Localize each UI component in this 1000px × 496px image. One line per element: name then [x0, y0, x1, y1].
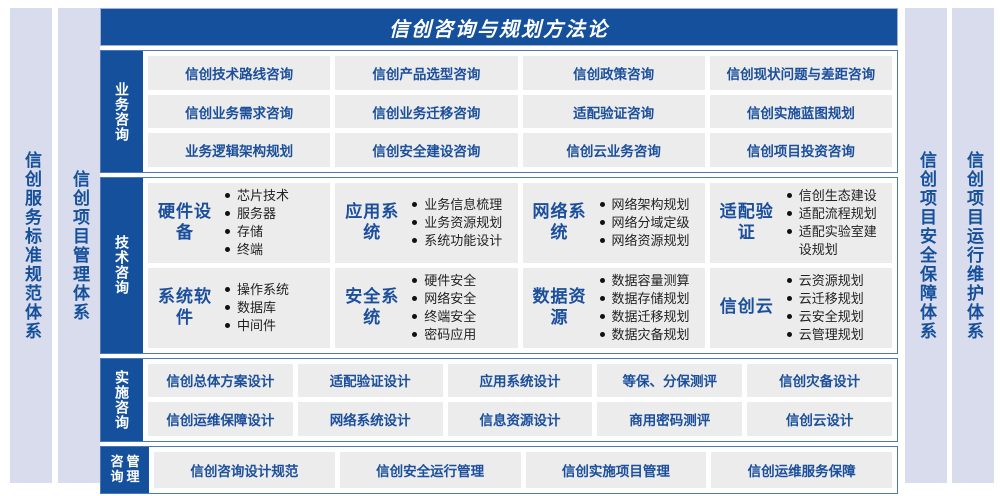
bullet-item: 数据迁移规划 [599, 308, 699, 326]
bullet-item: 密码应用 [411, 326, 511, 344]
bullet-item: 终端安全 [411, 308, 511, 326]
pillar-service-standard-system: 信创服务标准规范体系 [10, 8, 52, 483]
band-row: 系统软件 操作系统 数据库 中间件 安全系统 硬件安全 网络安全 终端安全 [148, 268, 892, 348]
pillar-project-management-system: 信创项目管理体系 [58, 8, 100, 483]
topic-card-bullets: 硬件安全 网络安全 终端安全 密码应用 [407, 272, 511, 344]
band-label-technical: 技术咨询 [101, 178, 143, 353]
band-row: 信创咨询设计规范 信创安全运行管理 信创实施项目管理 信创运维服务保障 [154, 452, 892, 488]
band-label-char: 询 [110, 470, 123, 485]
list-item[interactable]: 信创运维保障设计 [148, 402, 293, 436]
bullet-item: 业务信息梳理 [411, 196, 511, 214]
page-title: 信创咨询与规划方法论 [389, 13, 609, 42]
bullet-item: 网络安全 [411, 290, 511, 308]
band-label-char: 咨 [110, 455, 123, 470]
bullet-item: 操作系统 [224, 281, 324, 299]
band-body-implementation: 信创总体方案设计 适配验证设计 应用系统设计 等保、分保测评 信创灾备设计 信创… [143, 359, 897, 441]
bullet-item: 数据存储规划 [599, 290, 699, 308]
bullet-item: 数据灾备规划 [599, 326, 699, 344]
topic-card-title: 硬件设备 [154, 202, 216, 243]
topic-card-title: 信创云 [716, 297, 778, 317]
list-item[interactable]: 等保、分保测评 [597, 364, 742, 398]
bullet-item: 芯片技术 [224, 187, 324, 205]
bullet-item: 适配流程规划 [786, 205, 886, 223]
list-item[interactable]: 信创咨询设计规范 [154, 452, 335, 488]
diagram-canvas: 信创服务标准规范体系 信创项目管理体系 信创项目安全保障体系 信创项目运行维护体… [0, 0, 1000, 496]
list-item[interactable]: 信创现状问题与差距咨询 [710, 56, 892, 90]
topic-card-bullets: 云资源规划 云迁移规划 云安全规划 云管理规划 [782, 272, 886, 344]
bullet-item: 网络资源规划 [599, 232, 699, 250]
list-item[interactable]: 信创业务迁移咨询 [335, 95, 517, 129]
bullet-item: 云管理规划 [786, 326, 886, 344]
list-item[interactable]: 信创业务需求咨询 [148, 95, 330, 129]
bullet-item: 硬件安全 [411, 272, 511, 290]
band-row: 信创技术路线咨询 信创产品选型咨询 信创政策咨询 信创现状问题与差距咨询 [148, 56, 892, 90]
pillar-label: 信创项目运行维护体系 [963, 151, 983, 341]
list-item[interactable]: 信创灾备设计 [747, 364, 892, 398]
band-business-consulting: 业务咨询 信创技术路线咨询 信创产品选型咨询 信创政策咨询 信创现状问题与差距咨… [100, 50, 898, 173]
topic-card-network-system[interactable]: 网络系统 网络架构规划 网络分域定级 网络资源规划 [523, 183, 705, 263]
band-row: 业务逻辑架构规划 信创安全建设咨询 信创云业务咨询 信创项目投资咨询 [148, 133, 892, 167]
band-label-management: 咨 管 询 理 [101, 447, 149, 493]
band-body-management: 信创咨询设计规范 信创安全运行管理 信创实施项目管理 信创运维服务保障 [149, 447, 897, 493]
list-item[interactable]: 业务逻辑架构规划 [148, 133, 330, 167]
topic-card-bullets: 业务信息梳理 业务资源规划 系统功能设计 [407, 196, 511, 250]
list-item[interactable]: 信创总体方案设计 [148, 364, 293, 398]
band-body-technical: 硬件设备 芯片技术 服务器 存储 终端 应用系统 业务信息梳理 业务资源规划 [143, 178, 897, 353]
bullet-item: 数据容量测算 [599, 272, 699, 290]
list-item[interactable]: 信创技术路线咨询 [148, 56, 330, 90]
topic-card-security-system[interactable]: 安全系统 硬件安全 网络安全 终端安全 密码应用 [335, 268, 517, 348]
bullet-item: 网络分域定级 [599, 214, 699, 232]
list-item[interactable]: 信创产品选型咨询 [335, 56, 517, 90]
bullet-item: 中间件 [224, 317, 324, 335]
band-label-char: 理 [127, 470, 140, 485]
bullet-item: 云安全规划 [786, 308, 886, 326]
bullet-item: 网络架构规划 [599, 196, 699, 214]
topic-card-bullets: 信创生态建设 适配流程规划 适配实验室建设规划 [782, 187, 886, 259]
topic-card-bullets: 数据容量测算 数据存储规划 数据迁移规划 数据灾备规划 [595, 272, 699, 344]
pillar-project-operations-maintenance-system: 信创项目运行维护体系 [952, 8, 994, 483]
topic-card-bullets: 操作系统 数据库 中间件 [220, 281, 324, 335]
band-technical-consulting: 技术咨询 硬件设备 芯片技术 服务器 存储 终端 应用系统 [100, 177, 898, 354]
list-item[interactable]: 信创安全建设咨询 [335, 133, 517, 167]
band-body-business: 信创技术路线咨询 信创产品选型咨询 信创政策咨询 信创现状问题与差距咨询 信创业… [143, 51, 897, 172]
topic-card-system-software[interactable]: 系统软件 操作系统 数据库 中间件 [148, 268, 330, 348]
topic-card-title: 系统软件 [154, 287, 216, 328]
bullet-item: 服务器 [224, 205, 324, 223]
topic-card-title: 网络系统 [529, 202, 591, 243]
band-label-char: 管 [127, 455, 140, 470]
bullet-item: 存储 [224, 223, 324, 241]
band-implementation-consulting: 实施咨询 信创总体方案设计 适配验证设计 应用系统设计 等保、分保测评 信创灾备… [100, 358, 898, 442]
band-label-text: 实施咨询 [114, 370, 130, 430]
list-item[interactable]: 信创运维服务保障 [711, 452, 892, 488]
list-item[interactable]: 信创云设计 [747, 402, 892, 436]
list-item[interactable]: 信创实施项目管理 [526, 452, 707, 488]
band-row: 信创总体方案设计 适配验证设计 应用系统设计 等保、分保测评 信创灾备设计 [148, 364, 892, 398]
topic-card-title: 安全系统 [341, 287, 403, 328]
band-label-implementation: 实施咨询 [101, 359, 143, 441]
band-row: 硬件设备 芯片技术 服务器 存储 终端 应用系统 业务信息梳理 业务资源规划 [148, 183, 892, 263]
band-label-text: 业务咨询 [114, 82, 130, 142]
topic-card-data-resources[interactable]: 数据资源 数据容量测算 数据存储规划 数据迁移规划 数据灾备规划 [523, 268, 705, 348]
bullet-item: 终端 [224, 241, 324, 259]
bullet-item: 信创生态建设 [786, 187, 886, 205]
page-title-bar: 信创咨询与规划方法论 [100, 8, 898, 46]
bullet-item: 适配实验室建设规划 [786, 223, 886, 259]
list-item[interactable]: 应用系统设计 [448, 364, 593, 398]
band-label-grid: 咨 管 询 理 [110, 455, 139, 485]
bullet-item: 云迁移规划 [786, 290, 886, 308]
bullet-item: 系统功能设计 [411, 232, 511, 250]
bullet-item: 业务资源规划 [411, 214, 511, 232]
list-item[interactable]: 信创云业务咨询 [523, 133, 705, 167]
topic-card-xinchuang-cloud[interactable]: 信创云 云资源规划 云迁移规划 云安全规划 云管理规划 [710, 268, 892, 348]
band-consulting-management: 咨 管 询 理 信创咨询设计规范 信创安全运行管理 信创实施项目管理 信创运维服… [100, 446, 898, 494]
topic-card-title: 数据资源 [529, 287, 591, 328]
bullet-item: 云资源规划 [786, 272, 886, 290]
topic-card-title: 应用系统 [341, 202, 403, 243]
pillar-label: 信创项目安全保障体系 [916, 151, 936, 341]
topic-card-hardware-equipment[interactable]: 硬件设备 芯片技术 服务器 存储 终端 [148, 183, 330, 263]
topic-card-title: 适配验证 [716, 202, 778, 243]
main-column: 信创咨询与规划方法论 业务咨询 信创技术路线咨询 信创产品选型咨询 信创政策咨询… [100, 8, 898, 488]
pillar-project-security-assurance-system: 信创项目安全保障体系 [905, 8, 947, 483]
band-row: 信创运维保障设计 网络系统设计 信息资源设计 商用密码测评 信创云设计 [148, 402, 892, 436]
bullet-item: 数据库 [224, 299, 324, 317]
list-item[interactable]: 信创项目投资咨询 [710, 133, 892, 167]
list-item[interactable]: 商用密码测评 [597, 402, 742, 436]
band-label-text: 技术咨询 [114, 235, 130, 295]
list-item[interactable]: 网络系统设计 [298, 402, 443, 436]
list-item[interactable]: 适配验证咨询 [523, 95, 705, 129]
list-item[interactable]: 信创安全运行管理 [340, 452, 521, 488]
band-label-business: 业务咨询 [101, 51, 143, 172]
pillar-label: 信创服务标准规范体系 [21, 151, 41, 341]
list-item[interactable]: 信息资源设计 [448, 402, 593, 436]
list-item[interactable]: 信创政策咨询 [523, 56, 705, 90]
list-item[interactable]: 信创实施蓝图规划 [710, 95, 892, 129]
topic-card-adaptation-verification[interactable]: 适配验证 信创生态建设 适配流程规划 适配实验室建设规划 [710, 183, 892, 263]
list-item[interactable]: 适配验证设计 [298, 364, 443, 398]
topic-card-application-system[interactable]: 应用系统 业务信息梳理 业务资源规划 系统功能设计 [335, 183, 517, 263]
band-row: 信创业务需求咨询 信创业务迁移咨询 适配验证咨询 信创实施蓝图规划 [148, 95, 892, 129]
pillar-label: 信创项目管理体系 [69, 170, 89, 322]
topic-card-bullets: 网络架构规划 网络分域定级 网络资源规划 [595, 196, 699, 250]
topic-card-bullets: 芯片技术 服务器 存储 终端 [220, 187, 324, 259]
